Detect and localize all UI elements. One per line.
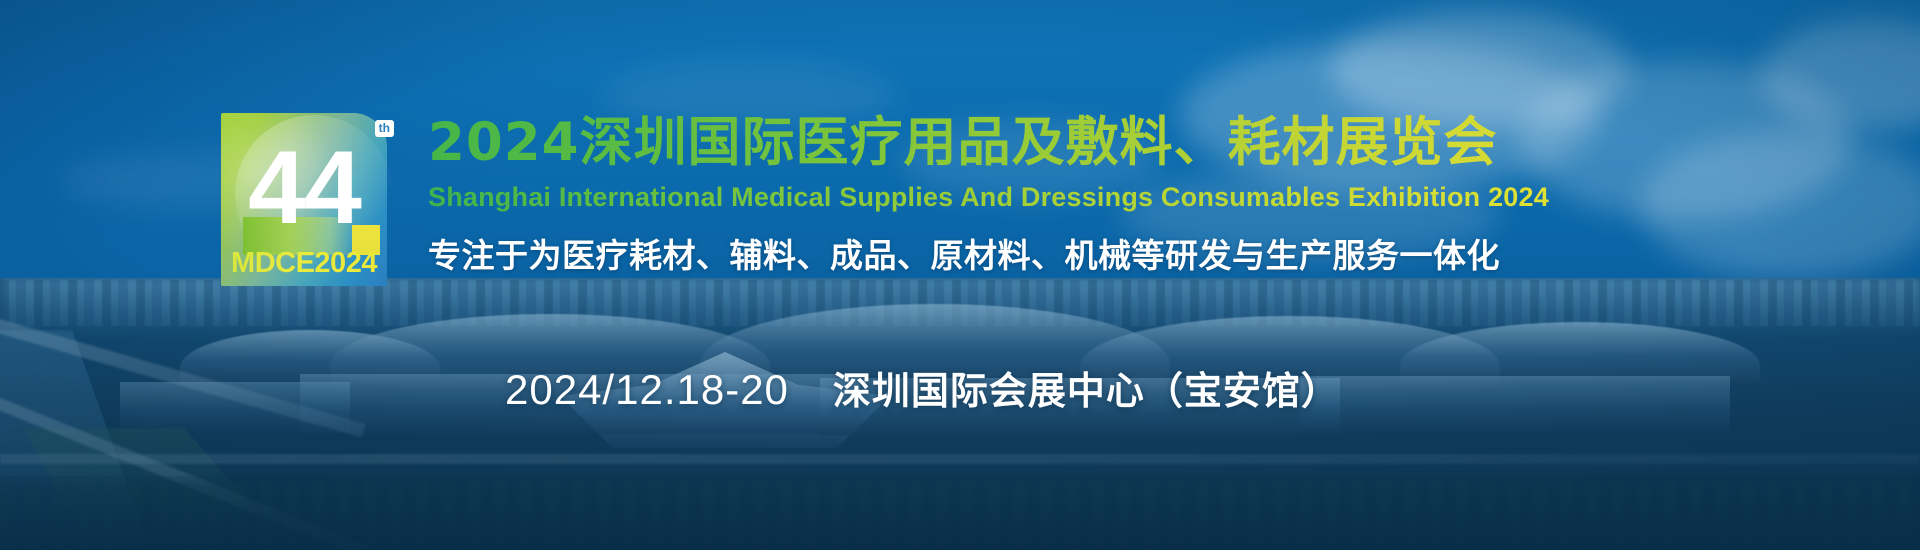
foreground-shadow (0, 476, 1920, 550)
event-date: 2024/12.18-20 (505, 364, 789, 416)
exhibition-hall-block (1300, 376, 1730, 432)
title-english: Shanghai International Medical Supplies … (428, 181, 1858, 214)
logo-ordinal-badge: th (375, 120, 394, 137)
tagline-chinese: 专注于为医疗耗材、辅料、成品、原材料、机械等研发与生产服务一体化 (428, 234, 1858, 278)
event-details: 2024/12.18-20 深圳国际会展中心（宝安馆） (505, 364, 1340, 417)
exhibition-banner: 44 th MDCE2024 2024深圳国际医疗用品及敷料、耗材展览会 Sha… (0, 0, 1920, 550)
logo-acronym: MDCE2024 (221, 247, 387, 280)
highway (0, 454, 1920, 464)
event-venue: 深圳国际会展中心（宝安馆） (833, 365, 1340, 417)
title-chinese: 2024深圳国际医疗用品及敷料、耗材展览会 (428, 112, 1858, 174)
headline-block: 2024深圳国际医疗用品及敷料、耗材展览会 Shanghai Internati… (428, 112, 1858, 278)
mdce-logo: 44 th MDCE2024 (221, 113, 387, 286)
logo-edition-number: 44 (221, 133, 387, 243)
